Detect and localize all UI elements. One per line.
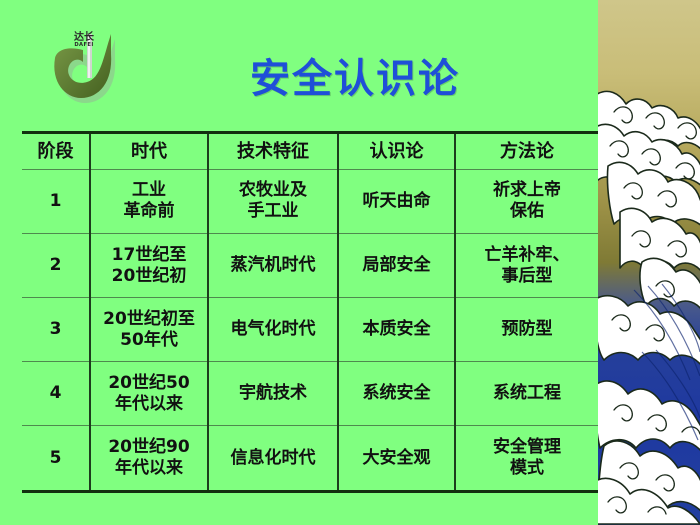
cell-methodology: 亡羊补牢、 事后型 <box>455 233 598 297</box>
table-row: 2 17世纪至 20世纪初 蒸汽机时代 局部安全 亡羊补牢、 事后型 <box>22 233 598 297</box>
cell-epistemology: 本质安全 <box>338 298 455 362</box>
cell-technology: 信息化时代 <box>208 426 338 492</box>
cell-methodology: 预防型 <box>455 298 598 362</box>
cell-stage: 1 <box>22 169 90 233</box>
table-row: 1 工业 革命前 农牧业及 手工业 听天由命 祈求上帝 保佑 <box>22 169 598 233</box>
table-row: 3 20世纪初至 50年代 电气化时代 本质安全 预防型 <box>22 298 598 362</box>
slide-canvas: 达长 DAFEI 安全认识论 阶段 时代 技术特征 认识论 方法论 1 <box>0 0 700 525</box>
cell-stage: 2 <box>22 233 90 297</box>
cell-stage: 5 <box>22 426 90 492</box>
cell-era: 17世纪至 20世纪初 <box>90 233 208 297</box>
column-header-methodology: 方法论 <box>455 133 598 170</box>
cell-technology: 蒸汽机时代 <box>208 233 338 297</box>
safety-epistemology-table: 阶段 时代 技术特征 认识论 方法论 1 工业 革命前 农牧业及 手工业 听天由… <box>22 131 598 493</box>
cell-epistemology: 听天由命 <box>338 169 455 233</box>
cell-era: 工业 革命前 <box>90 169 208 233</box>
cell-epistemology: 系统安全 <box>338 362 455 426</box>
cell-technology: 宇航技术 <box>208 362 338 426</box>
table-row: 5 20世纪90 年代以来 信息化时代 大安全观 安全管理 模式 <box>22 426 598 492</box>
dafei-logo: 达长 DAFEI <box>47 26 121 104</box>
japanese-wave-illustration <box>598 0 700 525</box>
column-header-epistemology: 认识论 <box>338 133 455 170</box>
column-header-technology: 技术特征 <box>208 133 338 170</box>
table-row: 4 20世纪50 年代以来 宇航技术 系统安全 系统工程 <box>22 362 598 426</box>
column-header-stage: 阶段 <box>22 133 90 170</box>
cell-epistemology: 局部安全 <box>338 233 455 297</box>
cell-stage: 3 <box>22 298 90 362</box>
cell-stage: 4 <box>22 362 90 426</box>
cell-technology: 电气化时代 <box>208 298 338 362</box>
cell-methodology: 祈求上帝 保佑 <box>455 169 598 233</box>
cell-methodology: 系统工程 <box>455 362 598 426</box>
table-header-row: 阶段 时代 技术特征 认识论 方法论 <box>22 133 598 170</box>
cell-technology: 农牧业及 手工业 <box>208 169 338 233</box>
logo-latin-text: DAFEI <box>74 42 93 48</box>
cell-epistemology: 大安全观 <box>338 426 455 492</box>
cell-methodology: 安全管理 模式 <box>455 426 598 492</box>
cell-era: 20世纪90 年代以来 <box>90 426 208 492</box>
cell-era: 20世纪50 年代以来 <box>90 362 208 426</box>
column-header-era: 时代 <box>90 133 208 170</box>
cell-era: 20世纪初至 50年代 <box>90 298 208 362</box>
page-title: 安全认识论 <box>205 56 505 102</box>
